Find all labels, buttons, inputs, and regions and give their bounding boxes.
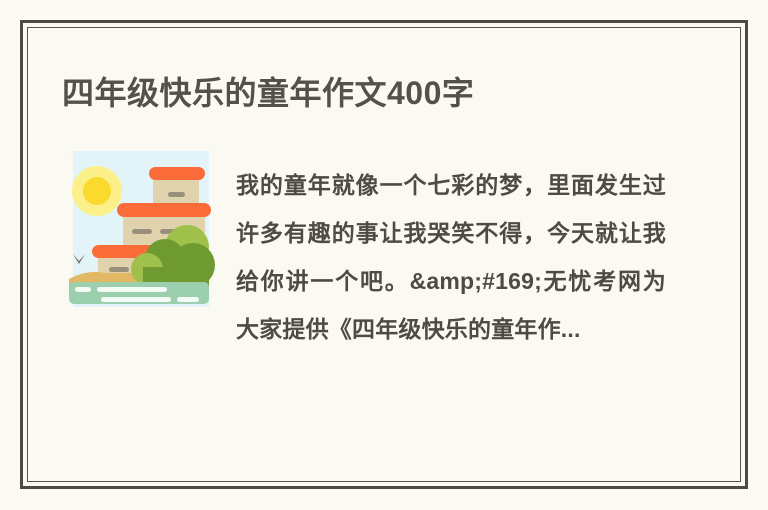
roof-back bbox=[149, 167, 205, 180]
wave bbox=[101, 297, 171, 302]
card-inner-border: 四年级快乐的童年作文400字 bbox=[27, 27, 741, 482]
article-excerpt: 我的童年就像一个七彩的梦，里面发生过许多有趣的事让我哭笑不得，今天就让我给你讲一… bbox=[236, 161, 666, 353]
window bbox=[168, 192, 185, 197]
window bbox=[132, 229, 152, 234]
card-content: 四年级快乐的童年作文400字 bbox=[28, 28, 740, 481]
wave bbox=[97, 287, 167, 292]
article-card: 四年级快乐的童年作文400字 bbox=[20, 20, 748, 489]
roof-middle bbox=[117, 203, 211, 217]
sun-core bbox=[83, 177, 111, 205]
wave bbox=[75, 287, 91, 292]
wave bbox=[177, 297, 199, 302]
window bbox=[109, 267, 129, 272]
page-title: 四年级快乐的童年作文400字 bbox=[62, 76, 474, 111]
article-thumbnail bbox=[65, 151, 217, 307]
seaside-village-illustration bbox=[65, 151, 217, 307]
